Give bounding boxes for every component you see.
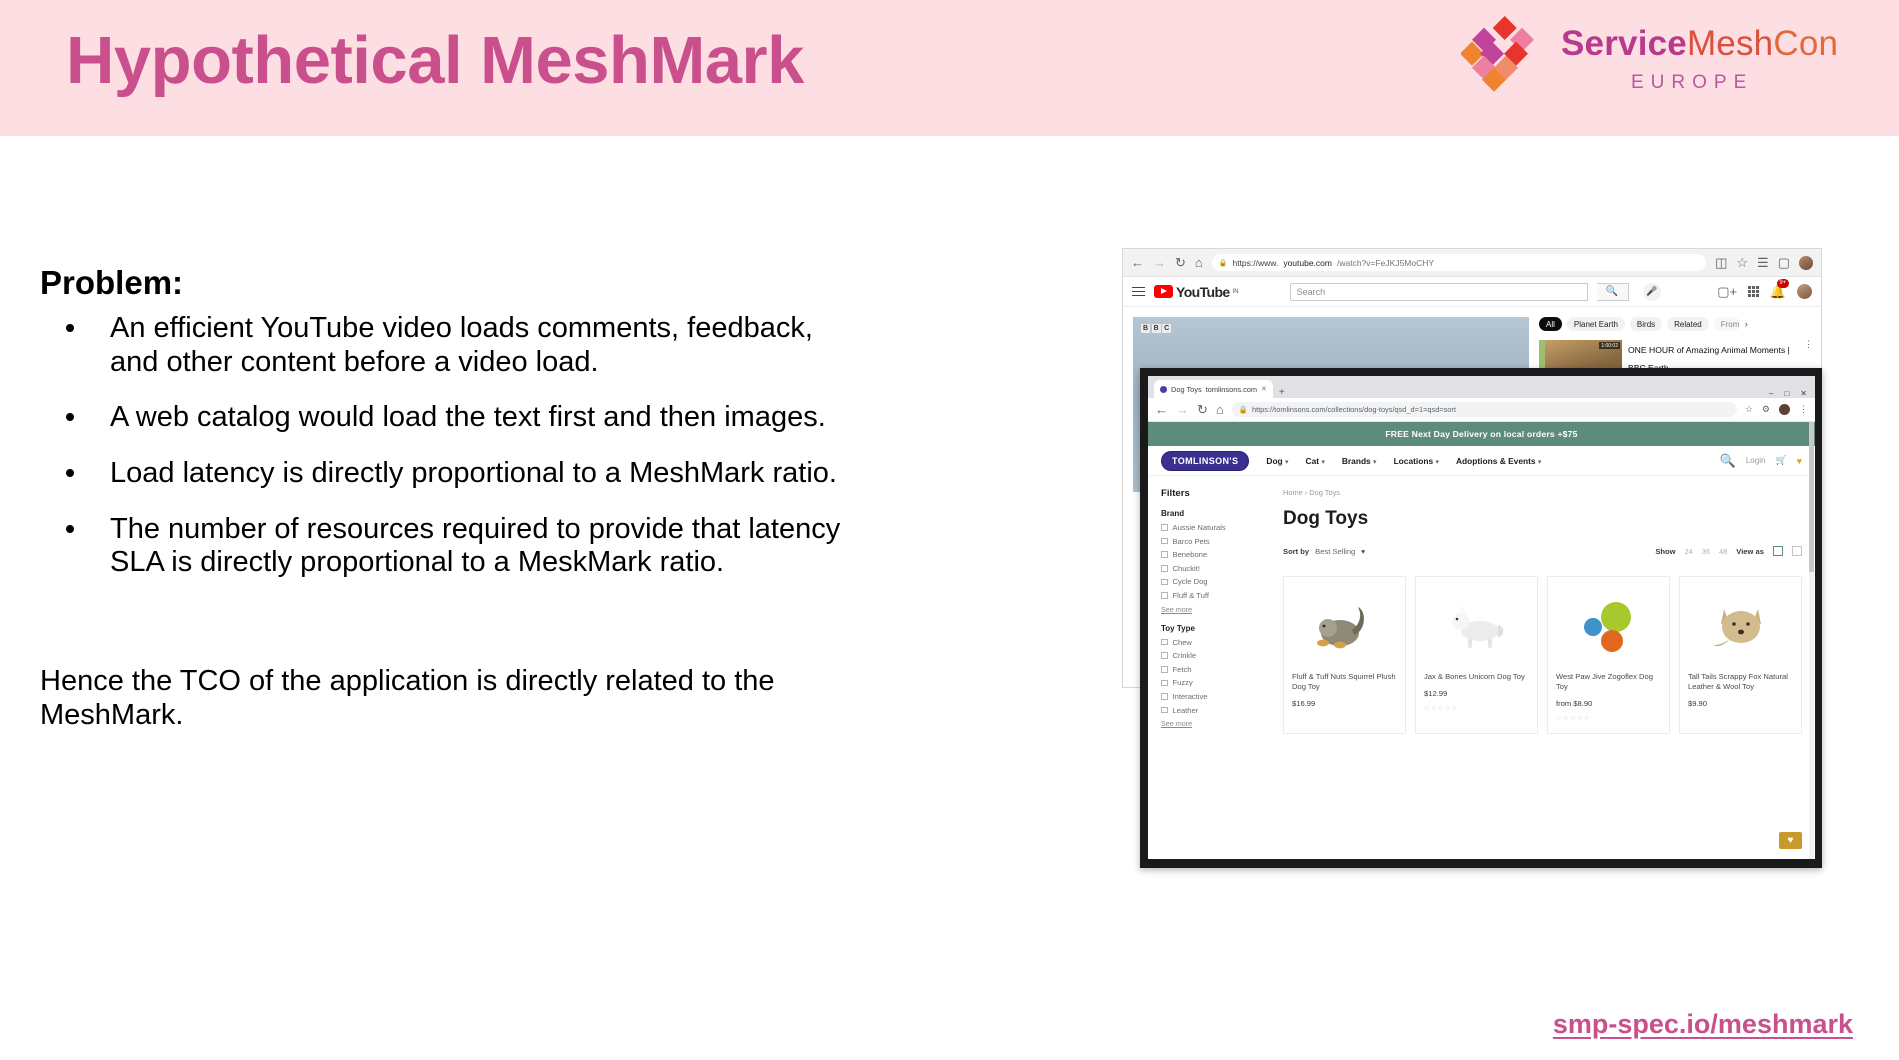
browser-chrome-toolbar: ← → ↻ ⌂ 🔒 https://www.youtube.com/watch?… [1123, 249, 1821, 277]
logo-service-text: Service [1561, 24, 1687, 63]
filter-group-toytype-label: Toy Type [1161, 624, 1269, 633]
list-item: The number of resources required to prov… [48, 513, 868, 580]
url-path: /watch?v=FeJKJ5MoCHY [1337, 258, 1434, 268]
show-label: Show [1655, 547, 1675, 556]
wishlist-floating-button[interactable]: ♥ [1779, 832, 1802, 849]
collections-icon[interactable]: ☰ [1757, 256, 1769, 269]
bullet-dot-icon [66, 525, 74, 533]
sort-by-value[interactable]: Best Selling [1315, 547, 1355, 556]
product-price: $16.99 [1292, 699, 1397, 708]
screenshot-composite: ← → ↻ ⌂ 🔒 https://www.youtube.com/watch?… [1122, 248, 1822, 868]
product-name: Tall Tails Scrappy Fox Natural Leather &… [1688, 672, 1793, 692]
youtube-wordmark: YouTube [1176, 284, 1230, 300]
checkbox-icon[interactable] [1161, 693, 1168, 700]
split-screen-icon[interactable]: ◫ [1715, 256, 1727, 269]
bullet-dot-icon [66, 469, 74, 477]
filter-option[interactable]: Crinkle [1161, 651, 1269, 660]
unicorn-plush-toy-icon [1446, 597, 1508, 653]
back-icon[interactable]: ← [1131, 256, 1144, 269]
product-card[interactable]: Jax & Bones Unicorn Dog Toy $12.99 ☆☆☆☆☆ [1415, 576, 1538, 734]
masthead-actions: ▢+ 🔔 9+ [1717, 283, 1812, 301]
notifications-icon[interactable]: 🔔 9+ [1770, 283, 1786, 301]
see-more-toytype-link[interactable]: See more [1161, 719, 1269, 728]
checkbox-icon[interactable] [1161, 538, 1168, 545]
page-title: Hypothetical MeshMark [66, 22, 804, 99]
filter-option[interactable]: Chuckit! [1161, 564, 1269, 573]
logo-con-text: Con [1773, 24, 1838, 63]
checkbox-icon[interactable] [1161, 579, 1168, 586]
apps-grid-icon[interactable] [1748, 286, 1759, 297]
filter-option[interactable]: Benebone [1161, 550, 1269, 559]
forward-icon[interactable]: → [1176, 403, 1189, 416]
filter-chip-row: All Planet Earth Birds Related From › [1539, 317, 1813, 331]
tab-title: Dog Toys [1171, 385, 1202, 394]
filter-option[interactable]: Interactive [1161, 692, 1269, 701]
browser-tab-bar: Dog Toys tomlinsons.com ✕ + – □ ✕ [1148, 376, 1815, 398]
nav-utilities: 🔍 Login 🛒 ♥ [1720, 454, 1802, 467]
youtube-country-code: IN [1233, 289, 1239, 295]
product-name: Jax & Bones Unicorn Dog Toy [1424, 672, 1529, 682]
checkbox-icon[interactable] [1161, 592, 1168, 599]
chip-related[interactable]: Related [1667, 317, 1709, 331]
filters-sidebar: Filters Brand Aussie Naturals Barco Pets… [1161, 488, 1269, 844]
slide: Hypothetical MeshMark ServiceMeshCon EUR… [0, 0, 1899, 1060]
closing-paragraph: Hence the TCO of the application is dire… [40, 665, 810, 732]
checkbox-icon[interactable] [1161, 680, 1168, 687]
list-item: Load latency is directly proportional to… [48, 457, 868, 491]
reload-icon[interactable]: ↻ [1175, 256, 1186, 269]
product-image [1556, 586, 1661, 664]
browser-menu-icon[interactable]: ⋮ [1799, 404, 1808, 415]
show-option-48[interactable]: 48 [1719, 547, 1727, 556]
search-icon[interactable]: 🔍 [1720, 454, 1736, 467]
address-bar[interactable]: 🔒 https://tomlinsons.com/collections/dog… [1232, 402, 1737, 417]
new-tab-icon[interactable]: + [1279, 387, 1285, 398]
product-card[interactable]: Fluff & Tuff Nuts Squirrel Plush Dog Toy… [1283, 576, 1406, 734]
checkbox-icon[interactable] [1161, 524, 1168, 531]
catalog-toolbar: Sort by Best Selling ▾ Show 24 36 48 Vie… [1283, 546, 1802, 566]
cart-icon[interactable]: 🛒 [1775, 455, 1786, 466]
list-item: A web catalog would load the text first … [48, 401, 868, 435]
tomlinsons-logo[interactable]: TOMLINSON'S [1161, 451, 1249, 471]
bbc-watermark-icon: BBC [1141, 324, 1171, 333]
extensions-icon[interactable]: ▢ [1778, 256, 1790, 269]
filter-option[interactable]: Fuzzy [1161, 678, 1269, 687]
see-more-brand-link[interactable]: See more [1161, 605, 1269, 614]
wishlist-heart-icon[interactable]: ♥ [1797, 456, 1802, 466]
list-item: An efficient YouTube video loads comment… [48, 312, 868, 379]
filters-heading: Filters [1161, 488, 1269, 499]
sort-by-label: Sort by [1283, 547, 1309, 556]
filter-option[interactable]: Fetch [1161, 665, 1269, 674]
toolbar-right: Show 24 36 48 View as [1655, 546, 1802, 556]
chip-birds[interactable]: Birds [1630, 317, 1662, 331]
bullet-text: A web catalog would load the text first … [110, 401, 868, 435]
login-link[interactable]: Login [1746, 456, 1766, 465]
url-host: youtube.com [1283, 258, 1332, 268]
servicemeshcon-logo: ServiceMeshCon EUROPE [1461, 8, 1861, 120]
product-price: $12.99 [1424, 689, 1529, 698]
checkbox-icon[interactable] [1161, 652, 1168, 659]
checkbox-icon[interactable] [1161, 639, 1168, 646]
browser-profile-avatar[interactable] [1799, 256, 1813, 270]
bullet-dot-icon [66, 324, 74, 332]
user-avatar[interactable] [1797, 284, 1812, 299]
browser-profile-avatar[interactable] [1779, 404, 1790, 415]
product-card[interactable]: West Paw Jive Zogoflex Dog Toy from $8.9… [1547, 576, 1670, 734]
catalog-title: Dog Toys [1283, 508, 1802, 530]
home-icon[interactable]: ⌂ [1195, 256, 1203, 269]
bullet-list: An efficient YouTube video loads comment… [48, 312, 868, 602]
product-rating: ☆☆☆☆☆ [1424, 704, 1529, 712]
url-text: https://tomlinsons.com/collections/dog-t… [1252, 405, 1456, 414]
product-price: from $8.90 [1556, 699, 1661, 708]
bullet-text: The number of resources required to prov… [110, 513, 868, 580]
video-duration: 1:00:02 [1599, 342, 1620, 349]
filter-option[interactable]: Aussie Naturals [1161, 523, 1269, 532]
filter-option[interactable]: Leather [1161, 706, 1269, 715]
chip-from[interactable]: From [1714, 317, 1740, 331]
product-image [1424, 586, 1529, 664]
catalog-layout: Filters Brand Aussie Naturals Barco Pets… [1148, 476, 1815, 844]
search-input[interactable]: Search [1290, 283, 1588, 301]
filter-option[interactable]: Barco Pets [1161, 537, 1269, 546]
product-name: West Paw Jive Zogoflex Dog Toy [1556, 672, 1661, 692]
product-card[interactable]: Tall Tails Scrappy Fox Natural Leather &… [1679, 576, 1802, 734]
list-view-icon[interactable] [1792, 546, 1802, 556]
favorite-icon[interactable]: ☆ [1745, 404, 1753, 415]
tomlinsons-browser-window: Dog Toys tomlinsons.com ✕ + – □ ✕ ← → ↻ [1140, 368, 1822, 868]
window-controls: – □ ✕ [1769, 389, 1815, 398]
maximize-icon[interactable]: □ [1784, 389, 1789, 398]
breadcrumb: Home › Dog Toys [1283, 488, 1802, 497]
nav-item-locations[interactable]: Locations ▾ [1394, 456, 1439, 466]
favicon-icon [1160, 386, 1167, 393]
lock-icon: 🔒 [1219, 259, 1228, 267]
close-tab-icon[interactable]: ✕ [1261, 385, 1267, 393]
chevron-down-icon[interactable]: ▾ [1361, 547, 1365, 556]
nav-item-cat[interactable]: Cat ▾ [1306, 456, 1325, 466]
product-name: Fluff & Tuff Nuts Squirrel Plush Dog Toy [1292, 672, 1397, 692]
product-catalog: Home › Dog Toys Dog Toys Sort by Best Se… [1283, 488, 1802, 844]
product-price: $9.90 [1688, 699, 1793, 708]
filter-option[interactable]: Chew [1161, 638, 1269, 647]
show-option-24[interactable]: 24 [1685, 547, 1693, 556]
lock-icon: 🔒 [1239, 405, 1248, 414]
meshmark-spec-link[interactable]: smp-spec.io/meshmark [1553, 1009, 1853, 1040]
forward-icon[interactable]: → [1153, 256, 1166, 269]
youtube-play-icon [1154, 285, 1173, 298]
view-as-label: View as [1736, 547, 1764, 556]
page-scrollbar[interactable] [1809, 422, 1814, 859]
bullet-text: An efficient YouTube video loads comment… [110, 312, 868, 379]
tab-subtitle: tomlinsons.com [1206, 385, 1257, 394]
minimize-icon[interactable]: – [1769, 389, 1773, 398]
notification-badge: 9+ [1777, 279, 1789, 288]
site-navigation: TOMLINSON'S Dog ▾ Cat ▾ Brands ▾ Locatio… [1148, 446, 1815, 476]
bullet-dot-icon [66, 413, 74, 421]
address-bar[interactable]: 🔒 https://www.youtube.com/watch?v=FeJKJ5… [1212, 254, 1706, 271]
fox-leather-toy-icon [1710, 597, 1772, 653]
checkbox-icon[interactable] [1161, 707, 1168, 714]
chevron-right-icon[interactable]: › [1745, 319, 1748, 329]
logo-mesh-text: Mesh [1687, 24, 1773, 63]
browser-nav-bar: ← → ↻ ⌂ 🔒 https://tomlinsons.com/collect… [1148, 398, 1815, 422]
checkbox-icon[interactable] [1161, 666, 1168, 673]
squirrel-plush-toy-icon [1314, 597, 1376, 653]
url-scheme: https://www. [1232, 258, 1278, 268]
back-icon[interactable]: ← [1155, 403, 1168, 416]
chip-planet-earth[interactable]: Planet Earth [1567, 317, 1625, 331]
create-video-icon[interactable]: ▢+ [1717, 285, 1737, 298]
checkbox-icon[interactable] [1161, 551, 1168, 558]
nav-item-brands[interactable]: Brands ▾ [1342, 456, 1377, 466]
promo-banner: FREE Next Day Delivery on local orders +… [1148, 422, 1815, 446]
servicemeshcon-diamond-logo-icon [1461, 14, 1547, 92]
extensions-icon[interactable]: ⚙ [1762, 404, 1770, 415]
product-rating: ☆☆☆☆☆ [1556, 714, 1661, 722]
rubber-ball-toys-icon [1578, 597, 1640, 653]
nav-item-adoptions-events[interactable]: Adoptions & Events ▾ [1456, 456, 1541, 466]
close-icon[interactable]: ✕ [1800, 389, 1807, 398]
youtube-logo[interactable]: YouTube IN [1154, 284, 1239, 300]
bullet-text: Load latency is directly proportional to… [110, 457, 868, 491]
filter-option[interactable]: Cycle Dog [1161, 577, 1269, 586]
search-placeholder: Search [1297, 287, 1326, 297]
show-option-36[interactable]: 36 [1702, 547, 1710, 556]
youtube-masthead: YouTube IN Search 🔍 🎤 ▢+ 🔔 9+ [1123, 277, 1821, 307]
checkbox-icon[interactable] [1161, 565, 1168, 572]
search-button[interactable]: 🔍 [1597, 283, 1629, 301]
favorite-icon[interactable]: ☆ [1736, 256, 1748, 269]
voice-search-icon[interactable]: 🎤 [1643, 283, 1661, 301]
problem-heading: Problem: [40, 264, 183, 302]
product-grid: Fluff & Tuff Nuts Squirrel Plush Dog Toy… [1283, 576, 1802, 734]
chip-all[interactable]: All [1539, 317, 1562, 331]
browser-tab[interactable]: Dog Toys tomlinsons.com ✕ [1154, 380, 1273, 398]
home-icon[interactable]: ⌂ [1216, 403, 1224, 416]
filter-group-brand-label: Brand [1161, 509, 1269, 518]
menu-icon[interactable] [1132, 287, 1145, 297]
nav-item-dog[interactable]: Dog ▾ [1266, 456, 1288, 466]
logo-region-label: EUROPE [1631, 72, 1753, 94]
product-image [1292, 586, 1397, 664]
nav-actions: ☆ ⚙ ⋮ [1745, 404, 1808, 415]
product-image [1688, 586, 1793, 664]
reload-icon[interactable]: ↻ [1197, 403, 1208, 416]
filter-option[interactable]: Fluff & Tuff [1161, 591, 1269, 600]
grid-view-icon[interactable] [1773, 546, 1783, 556]
logo-wordmark: ServiceMeshCon [1561, 24, 1838, 64]
